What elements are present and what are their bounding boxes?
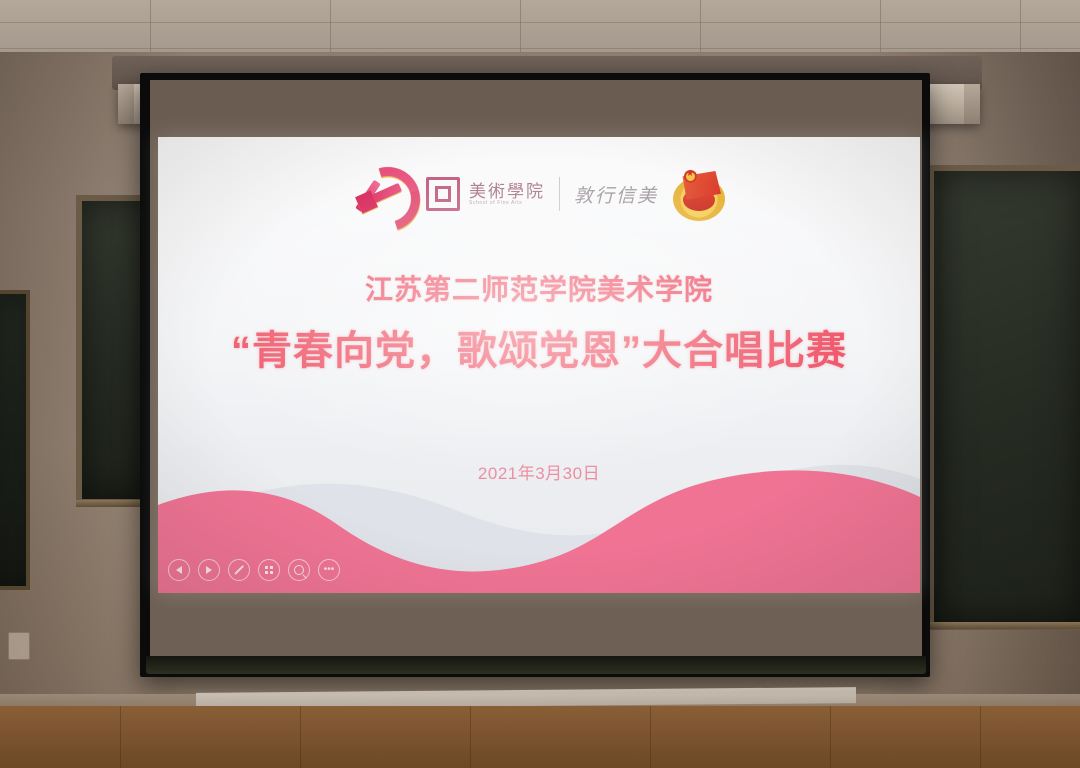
blackboard-far-left [0, 290, 30, 590]
school-of-fine-arts-logo: 美術學院 School of Fine Arts [426, 177, 545, 211]
slide-date: 2021年3月30日 [158, 459, 920, 484]
pen-icon [234, 565, 244, 575]
wall-outlet [8, 632, 30, 660]
logo-english-name: School of Fine Arts [469, 201, 545, 206]
calligraphy-motto: 敦行信美 [574, 181, 658, 208]
grid-icon [265, 566, 273, 574]
presentation-slide[interactable]: 美術學院 School of Fine Arts 敦行信美 江苏第二师范学院美术… [158, 137, 920, 593]
slide-main-title: “青春向党，歌颂党恩”大合唱比赛 [158, 318, 920, 376]
slide-subtitle: 江苏第二师范学院美术学院 [158, 268, 920, 308]
floor [0, 706, 1080, 768]
ellipsis-icon: ••• [324, 565, 335, 575]
magnifier-icon [294, 565, 304, 575]
cpc-party-emblem-icon [350, 165, 412, 223]
presentation-toolbar[interactable]: ••• [168, 559, 340, 581]
previous-slide-button[interactable] [168, 559, 190, 581]
classroom-scene: 美術學院 School of Fine Arts 敦行信美 江苏第二师范学院美术… [0, 0, 1080, 768]
logo-chinese-name: 美術學院 [469, 183, 545, 200]
communist-youth-league-emblem-icon [672, 165, 728, 223]
logo-divider [559, 177, 560, 211]
chevron-right-icon [206, 566, 212, 574]
next-slide-button[interactable] [198, 559, 220, 581]
zoom-button[interactable] [288, 559, 310, 581]
more-options-button[interactable]: ••• [318, 559, 340, 581]
pen-annotate-button[interactable] [228, 559, 250, 581]
blackboard-right [928, 165, 1080, 630]
screen-bottom-bar [146, 656, 926, 674]
slide-grid-button[interactable] [258, 559, 280, 581]
chalk-tray-right [928, 622, 1080, 629]
chevron-left-icon [176, 566, 182, 574]
slide-logo-row: 美術學院 School of Fine Arts 敦行信美 [158, 155, 920, 233]
seal-icon [426, 177, 460, 211]
